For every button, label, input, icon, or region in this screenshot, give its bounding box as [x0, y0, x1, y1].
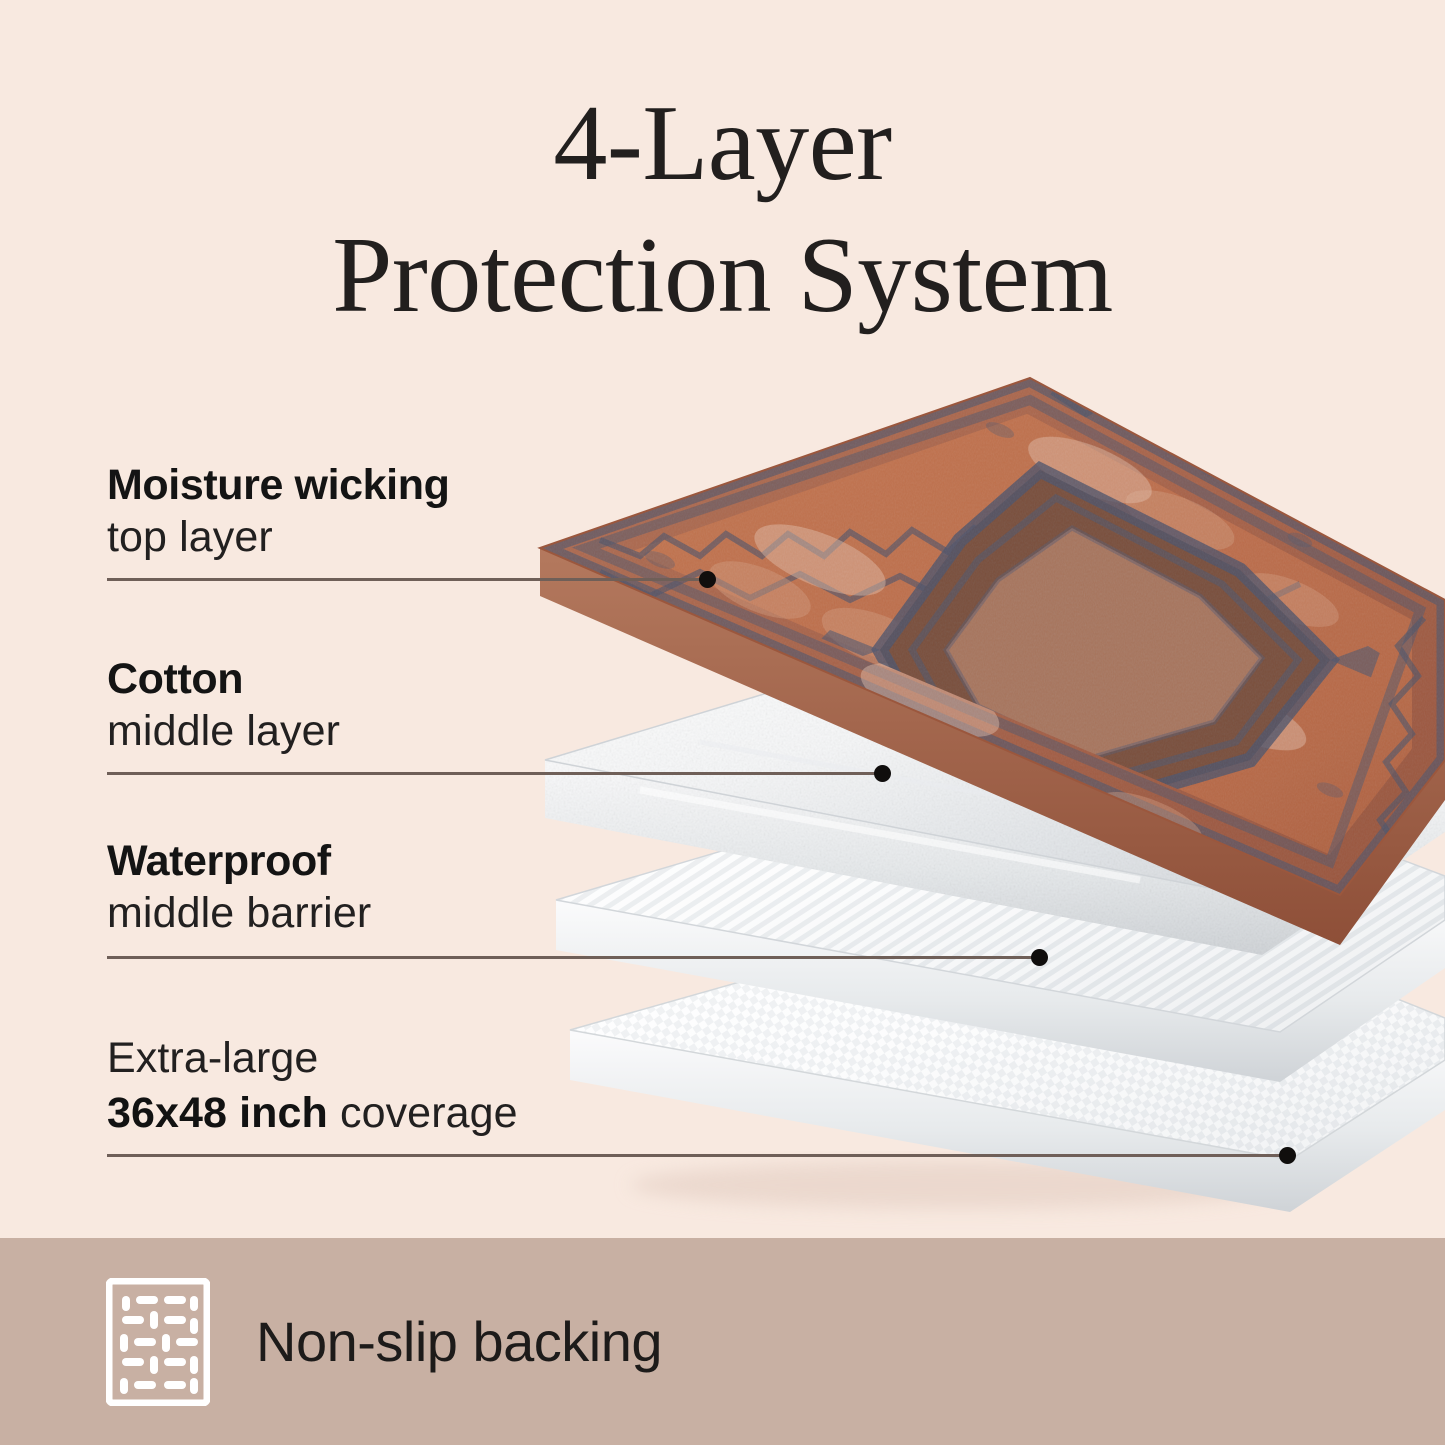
leader-dot-1 [699, 571, 716, 588]
leader-line-4 [107, 1154, 1287, 1157]
leader-line-3 [107, 956, 1039, 959]
cotton-middle-layer [545, 600, 1445, 955]
rug-top-layer [540, 378, 1445, 945]
non-slip-banner-label: Non-slip backing [256, 1309, 662, 1374]
leader-dot-3 [1031, 949, 1048, 966]
leader-line-2 [107, 772, 882, 775]
page-title: 4-Layer Protection System [0, 78, 1445, 342]
callout-4-subline: 36x48 inch coverage [107, 1087, 518, 1139]
leader-dot-2 [874, 765, 891, 782]
callout-cotton: Cotton middle layer [107, 656, 340, 758]
callout-1-subline: top layer [107, 511, 449, 563]
title-line-1: 4-Layer [0, 78, 1445, 210]
callout-1-headline: Moisture wicking [107, 462, 449, 508]
callout-3-subline: middle barrier [107, 887, 371, 939]
callout-extra-large: Extra-large 36x48 inch coverage [107, 1032, 518, 1140]
non-slip-banner: Non-slip backing [0, 1238, 1445, 1445]
leader-dot-4 [1279, 1147, 1296, 1164]
title-line-2: Protection System [0, 210, 1445, 342]
callout-waterproof: Waterproof middle barrier [107, 838, 371, 940]
waterproof-middle-barrier [556, 742, 1445, 1082]
leader-line-1 [107, 578, 707, 581]
callout-moisture-wicking: Moisture wicking top layer [107, 462, 449, 564]
callout-4-headline: Extra-large [107, 1032, 518, 1084]
callout-2-subline: middle layer [107, 705, 340, 757]
infographic-canvas: 4-Layer Protection System [0, 0, 1445, 1445]
callout-2-headline: Cotton [107, 656, 340, 702]
callout-4-size-tail: coverage [328, 1089, 518, 1137]
non-slip-grip-icon [106, 1278, 210, 1406]
callout-3-headline: Waterproof [107, 838, 371, 884]
callout-4-size-value: 36x48 inch [107, 1089, 328, 1137]
non-slip-bottom-layer [570, 880, 1445, 1212]
